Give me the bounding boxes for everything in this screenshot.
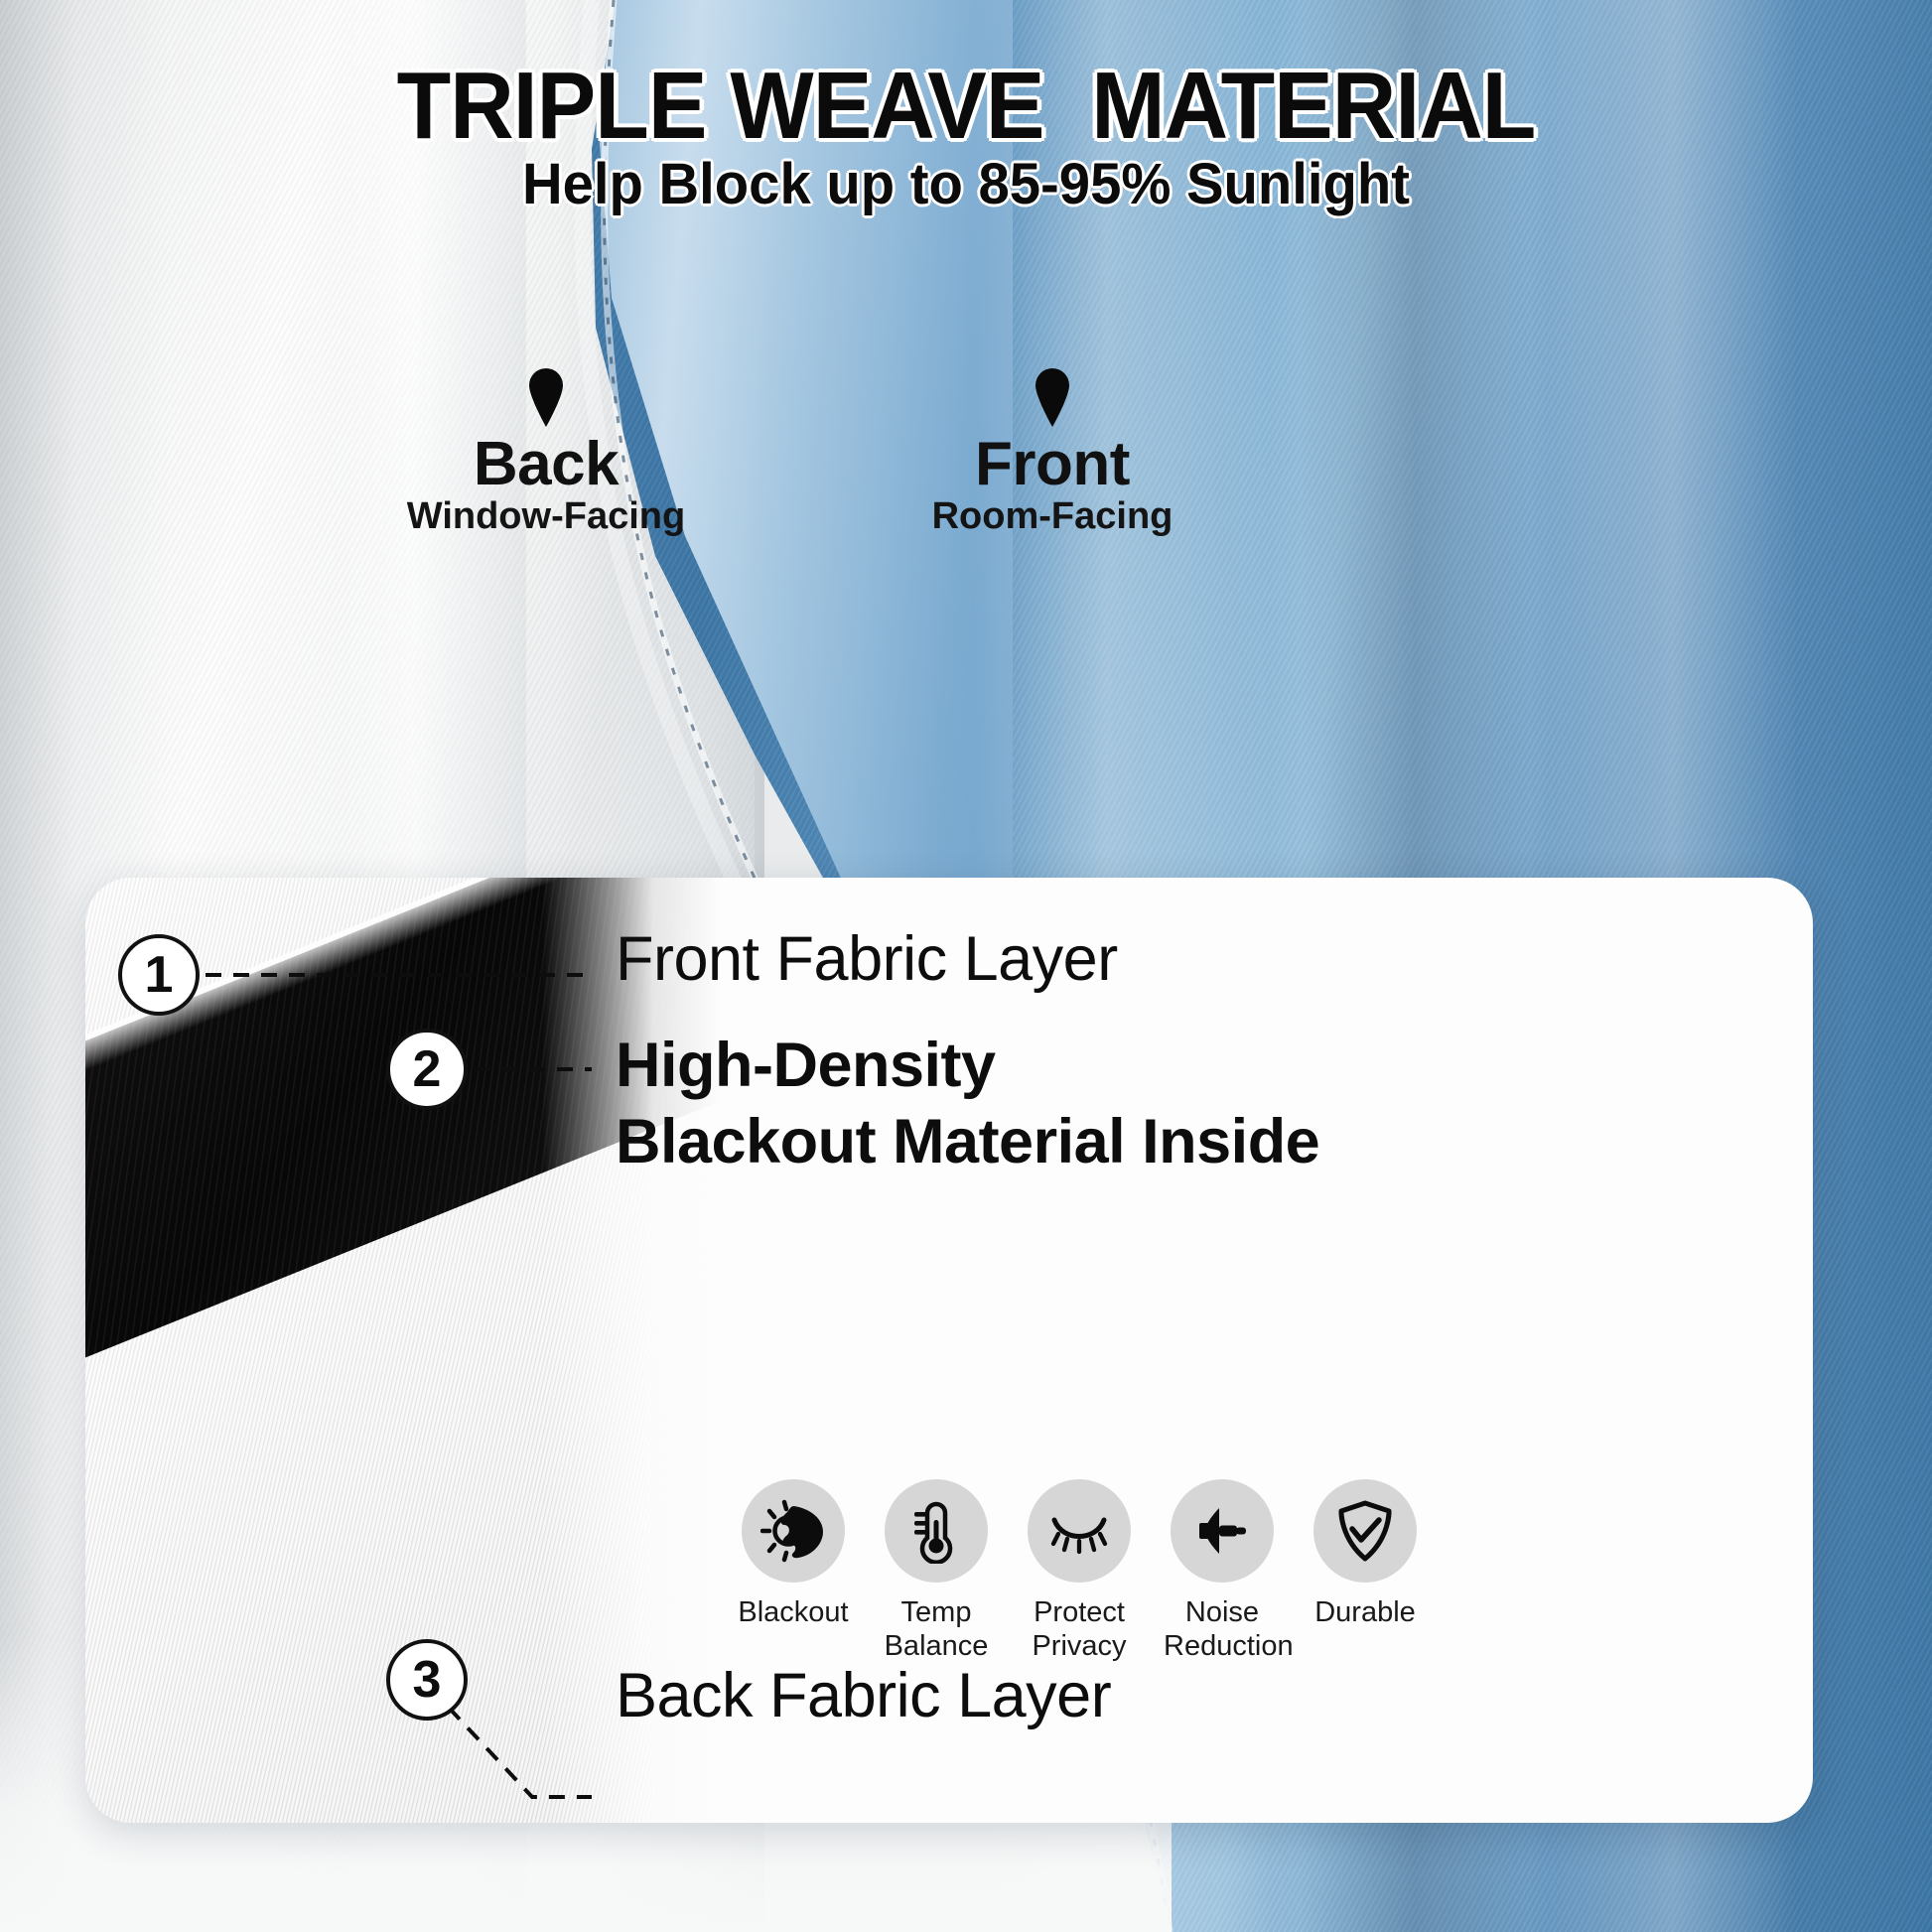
feature-label-line1: Protect bbox=[1021, 1596, 1138, 1630]
closed-eye-icon bbox=[1046, 1498, 1112, 1564]
feature-label: Durable bbox=[1307, 1596, 1424, 1630]
side-label-back-facing: Window-Facing bbox=[328, 497, 764, 537]
feature-noise-reduction: Noise Reduction bbox=[1164, 1479, 1281, 1663]
feature-blackout: Blackout bbox=[735, 1479, 852, 1630]
blackout-sun-icon bbox=[760, 1498, 826, 1564]
callout-marker-3: 3 bbox=[386, 1639, 468, 1721]
feature-label-line2: Reduction bbox=[1164, 1630, 1281, 1664]
callout-label-blackout-material: High-Density Blackout Material Inside bbox=[616, 1028, 1319, 1180]
feature-bubble bbox=[1028, 1479, 1131, 1583]
side-label-front-facing: Room-Facing bbox=[834, 497, 1271, 537]
feature-label: Temp Balance bbox=[878, 1596, 995, 1663]
map-pin-icon bbox=[524, 365, 568, 427]
feature-bubble bbox=[742, 1479, 845, 1583]
side-label-front: Front Room-Facing bbox=[834, 365, 1271, 537]
map-pin-icon bbox=[1031, 365, 1074, 427]
feature-bubble bbox=[1313, 1479, 1417, 1583]
feature-label: Protect Privacy bbox=[1021, 1596, 1138, 1663]
page-title: TRIPLE WEAVE MATERIAL bbox=[68, 52, 1864, 161]
feature-label: Noise Reduction bbox=[1164, 1596, 1281, 1663]
speaker-mute-icon bbox=[1189, 1498, 1255, 1564]
thermometer-icon bbox=[903, 1498, 969, 1564]
side-label-back-name: Back bbox=[328, 433, 764, 495]
feature-label-line1: Noise bbox=[1164, 1596, 1281, 1630]
callout-label-front-fabric-layer: Front Fabric Layer bbox=[616, 923, 1118, 995]
side-label-front-name: Front bbox=[834, 433, 1271, 495]
feature-bubble bbox=[1171, 1479, 1274, 1583]
callout-marker-1: 1 bbox=[118, 934, 200, 1016]
page-subtitle: Help Block up to 85-95% Sunlight bbox=[29, 151, 1903, 217]
feature-label-line1: Temp bbox=[878, 1596, 995, 1630]
side-label-back: Back Window-Facing bbox=[328, 365, 764, 537]
callout-label-blackout-line2: Blackout Material Inside bbox=[616, 1104, 1319, 1180]
feature-label-line2: Balance bbox=[878, 1630, 995, 1664]
feature-durable: Durable bbox=[1307, 1479, 1424, 1630]
feature-label-line1: Blackout bbox=[735, 1596, 852, 1630]
feature-temp-balance: Temp Balance bbox=[878, 1479, 995, 1663]
feature-protect-privacy: Protect Privacy bbox=[1021, 1479, 1138, 1663]
infographic-canvas: TRIPLE WEAVE MATERIAL Help Block up to 8… bbox=[0, 0, 1932, 1932]
feature-bubble bbox=[885, 1479, 988, 1583]
feature-label: Blackout bbox=[735, 1596, 852, 1630]
callout-label-blackout-line1: High-Density bbox=[616, 1028, 1319, 1104]
callout-marker-2: 2 bbox=[386, 1029, 468, 1110]
feature-label-line1: Durable bbox=[1307, 1596, 1424, 1630]
shield-check-icon bbox=[1332, 1498, 1398, 1564]
feature-label-line2: Privacy bbox=[1021, 1630, 1138, 1664]
feature-icon-row: Blackout Temp Balance bbox=[735, 1479, 1430, 1747]
